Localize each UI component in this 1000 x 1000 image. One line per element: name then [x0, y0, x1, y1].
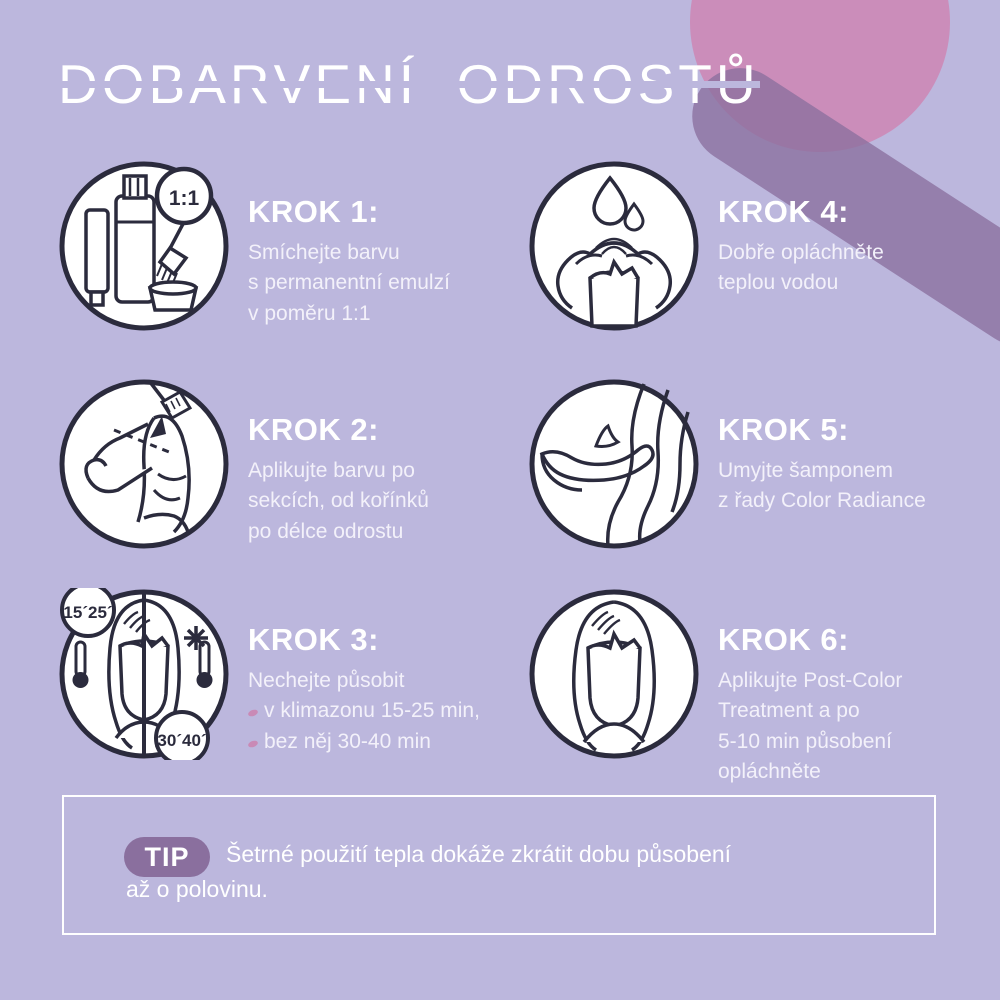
step-3: 15´25´ 30´40´ KROK 3: Nechejte působit v… [58, 588, 480, 760]
step-6-text: KROK 6: Aplikujte Post-Color Treatment a… [718, 588, 902, 787]
tip-text: Šetrné použití tepla dokáže zkrátit dobu… [226, 837, 731, 906]
tube-bottle-brush-bowl-icon: 1:1 [58, 160, 230, 332]
tip-box: TIP Šetrné použití tepla dokáže zkrátit … [62, 795, 936, 935]
badge-ratio: 1:1 [169, 187, 200, 210]
step-4-line-2: teplou vodou [718, 268, 884, 298]
step-5-line-2: z řady Color Radiance [718, 486, 926, 516]
step-6-line-3: 5-10 min působení [718, 727, 902, 757]
processing-time-thermometer-icon: 15´25´ 30´40´ [58, 588, 230, 760]
step-4-line-1: Dobře opláchněte [718, 238, 884, 268]
step-3-bullet-2: bez něj 30-40 min [248, 727, 480, 757]
step-2-line-1: Aplikujte barvu po [248, 456, 429, 486]
shampoo-in-palm-icon [528, 378, 700, 550]
step-6-line-2: Treatment a po [718, 696, 902, 726]
tip-row: TIP Šetrné použití tepla dokáže zkrátit … [124, 837, 731, 906]
step-6: KROK 6: Aplikujte Post-Color Treatment a… [528, 588, 902, 787]
step-2-text: KROK 2: Aplikujte barvu po sekcích, od k… [248, 378, 429, 547]
step-5: KROK 5: Umyjte šamponem z řady Color Rad… [528, 378, 926, 550]
step-4-title: KROK 4: [718, 194, 884, 230]
step-3-line-1: Nechejte působit [248, 666, 480, 696]
step-6-title: KROK 6: [718, 622, 902, 658]
step-5-text: KROK 5: Umyjte šamponem z řady Color Rad… [718, 378, 926, 517]
step-2-line-3: po délce odrostu [248, 517, 429, 547]
step-3-bullet-1: v klimazonu 15-25 min, [248, 696, 480, 726]
step-1: 1:1 KROK 1: Smíchejte barvu s permanentn… [58, 160, 450, 332]
tip-line-2: až o polovinu. [126, 872, 731, 907]
step-1-title: KROK 1: [248, 194, 450, 230]
step-6-line-4: opláchněte [718, 757, 902, 787]
brush-applying-to-roots-icon [58, 378, 230, 550]
step-4-text: KROK 4: Dobře opláchněte teplou vodou [718, 160, 884, 299]
step-3-title: KROK 3: [248, 622, 480, 658]
step-1-line-2: s permanentní emulzí [248, 268, 450, 298]
step-1-text: KROK 1: Smíchejte barvu s permanentní em… [248, 160, 450, 329]
water-drop-rinsing-hands-icon [528, 160, 700, 332]
step-2-line-2: sekcích, od kořínků [248, 486, 429, 516]
tip-line-1: Šetrné použití tepla dokáže zkrátit dobu… [226, 841, 731, 867]
step-5-title: KROK 5: [718, 412, 926, 448]
badge-time-without: 30´40´ [157, 731, 206, 750]
step-1-line-3: v poměru 1:1 [248, 299, 450, 329]
badge-time-climazone: 15´25´ [63, 603, 112, 622]
step-6-line-1: Aplikujte Post-Color [718, 666, 902, 696]
step-5-line-1: Umyjte šamponem [718, 456, 926, 486]
woman-long-hair-icon [528, 588, 700, 760]
step-2-title: KROK 2: [248, 412, 429, 448]
step-3-text: KROK 3: Nechejte působit v klimazonu 15-… [248, 588, 480, 757]
page-title: DOBARVENÍ ODROSTŮ [58, 52, 760, 116]
step-1-line-1: Smíchejte barvu [248, 238, 450, 268]
step-2: KROK 2: Aplikujte barvu po sekcích, od k… [58, 378, 429, 550]
step-4: KROK 4: Dobře opláchněte teplou vodou [528, 160, 884, 332]
